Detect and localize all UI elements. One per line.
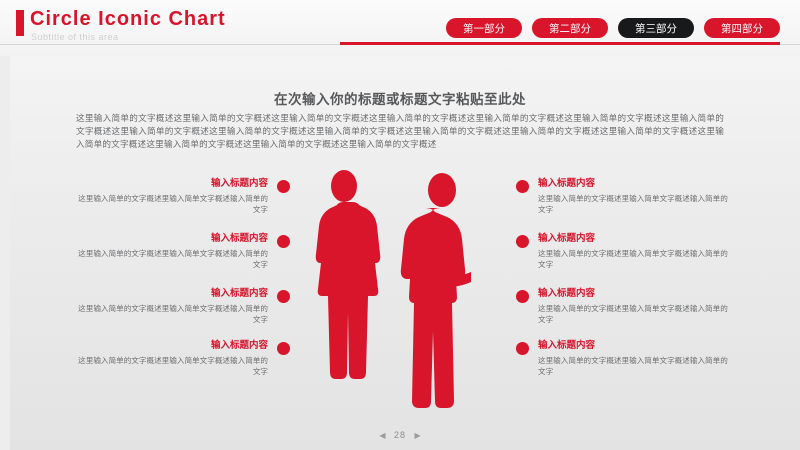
list-item-desc: 这里输入简单的文字概述里输入简单文字概述输入简单的文字 xyxy=(72,193,268,215)
list-item-title: 输入标题内容 xyxy=(538,340,734,352)
female-silhouette-icon xyxy=(316,170,381,379)
tab-part-4[interactable]: 第四部分 xyxy=(704,18,780,38)
list-item-desc: 这里输入简单的文字概述里输入简单文字概述输入简单的文字 xyxy=(538,193,734,215)
list-item: 输入标题内容 这里输入简单的文字概述里输入简单文字概述输入简单的文字 xyxy=(72,178,268,223)
male-silhouette-icon xyxy=(401,173,471,408)
list-item: 输入标题内容 这里输入简单的文字概述里输入简单文字概述输入简单的文字 xyxy=(538,233,734,278)
list-item-desc: 这里输入简单的文字概述里输入简单文字概述输入简单的文字 xyxy=(538,355,734,377)
bullet-dot-icon xyxy=(516,180,529,193)
bullet-dot-icon xyxy=(277,290,290,303)
bullet-dot-icon xyxy=(516,342,529,355)
list-item-title: 输入标题内容 xyxy=(538,288,734,300)
list-item: 输入标题内容 这里输入简单的文字概述里输入简单文字概述输入简单的文字 xyxy=(72,340,268,385)
list-item-title: 输入标题内容 xyxy=(538,233,734,245)
list-item-title: 输入标题内容 xyxy=(72,178,268,190)
tab-part-2[interactable]: 第二部分 xyxy=(532,18,608,38)
prev-slide-button[interactable]: ◀ xyxy=(379,431,385,440)
content-heading: 在次输入你的标题或标题文字粘贴至此处 xyxy=(0,88,800,108)
nav-underline xyxy=(340,42,780,45)
list-item-desc: 这里输入简单的文字概述里输入简单文字概述输入简单的文字 xyxy=(72,303,268,325)
list-item: 输入标题内容 这里输入简单的文字概述里输入简单文字概述输入简单的文字 xyxy=(538,178,734,223)
logo-accent-bar xyxy=(16,10,24,36)
page-title: Circle Iconic Chart xyxy=(30,8,226,31)
tab-part-1[interactable]: 第一部分 xyxy=(446,18,522,38)
list-item-title: 输入标题内容 xyxy=(72,288,268,300)
bullet-dot-icon xyxy=(516,290,529,303)
list-item-desc: 这里输入简单的文字概述里输入简单文字概述输入简单的文字 xyxy=(72,355,268,377)
list-item-desc: 这里输入简单的文字概述里输入简单文字概述输入简单的文字 xyxy=(538,248,734,270)
slide-header: Circle Iconic Chart Subtitle of this are… xyxy=(0,0,800,56)
bullet-dot-icon xyxy=(277,342,290,355)
content-paragraph: 这里输入简单的文字概述这里输入简单的文字概述这里输入简单的文字概述这里输入简单的… xyxy=(76,112,724,151)
slide-footer: ◀ 28 ▶ xyxy=(0,430,800,440)
list-item: 输入标题内容 这里输入简单的文字概述里输入简单文字概述输入简单的文字 xyxy=(538,288,734,333)
silhouette-group xyxy=(290,168,510,408)
list-item-desc: 这里输入简单的文字概述里输入简单文字概述输入简单的文字 xyxy=(72,248,268,270)
bullet-dot-icon xyxy=(277,235,290,248)
list-item-title: 输入标题内容 xyxy=(538,178,734,190)
list-item-title: 输入标题内容 xyxy=(72,340,268,352)
list-item: 输入标题内容 这里输入简单的文字概述里输入简单文字概述输入简单的文字 xyxy=(538,340,734,385)
list-item-title: 输入标题内容 xyxy=(72,233,268,245)
bullet-dot-icon xyxy=(277,180,290,193)
next-slide-button[interactable]: ▶ xyxy=(415,431,421,440)
nav-tabs: 第一部分 第二部分 第三部分 第四部分 xyxy=(446,18,780,38)
silhouette-svg xyxy=(290,168,510,408)
bullet-dot-icon xyxy=(516,235,529,248)
page-subtitle: Subtitle of this area xyxy=(31,32,119,42)
list-item: 输入标题内容 这里输入简单的文字概述里输入简单文字概述输入简单的文字 xyxy=(72,233,268,278)
left-edge-strip xyxy=(0,56,10,450)
tab-part-3[interactable]: 第三部分 xyxy=(618,18,694,38)
list-item: 输入标题内容 这里输入简单的文字概述里输入简单文字概述输入简单的文字 xyxy=(72,288,268,333)
page-number: 28 xyxy=(388,430,412,440)
slide: Circle Iconic Chart Subtitle of this are… xyxy=(0,0,800,450)
list-item-desc: 这里输入简单的文字概述里输入简单文字概述输入简单的文字 xyxy=(538,303,734,325)
